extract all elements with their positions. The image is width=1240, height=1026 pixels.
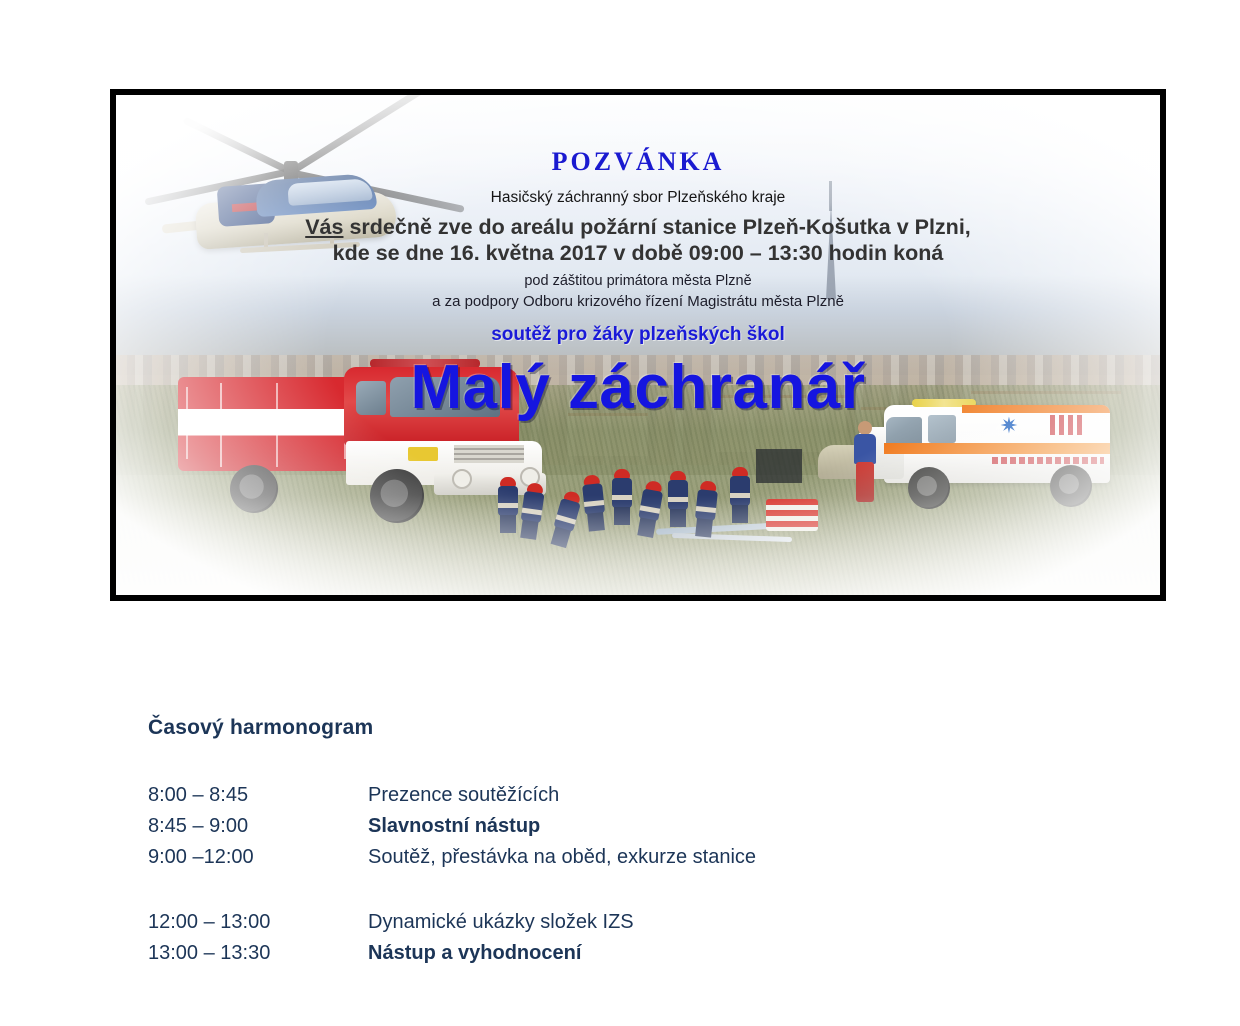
schedule-row: 12:00 – 13:00Dynamické ukázky složek IZS (148, 907, 1048, 938)
schedule-group: 12:00 – 13:00Dynamické ukázky složek IZS… (148, 907, 1048, 969)
poster-invitation-line1-rest: srdečně zve do areálu požární stanice Pl… (343, 215, 970, 239)
schedule-description: Prezence soutěžících (368, 780, 1048, 811)
poster-auspices-line1: pod záštitou primátora města Plzně (116, 273, 1160, 289)
poster-organization: Hasičský záchranný sbor Plzeňského kraje (116, 189, 1160, 207)
schedule-time: 8:00 – 8:45 (148, 780, 368, 811)
schedule-row: 9:00 –12:00Soutěž, přestávka na oběd, ex… (148, 842, 1048, 873)
schedule-section: Časový harmonogram 8:00 – 8:45Prezence s… (148, 716, 1048, 1003)
poster-text-block: POZVÁNKA Hasičský záchranný sbor Plzeňsk… (116, 95, 1160, 595)
poster-auspices-line2: a za podpory Odboru krizového řízení Mag… (116, 293, 1160, 310)
schedule-time: 9:00 –12:00 (148, 842, 368, 873)
schedule-row: 8:00 – 8:45Prezence soutěžících (148, 780, 1048, 811)
schedule-time: 12:00 – 13:00 (148, 907, 368, 938)
poster-invitation-underlined: Vás (305, 215, 343, 239)
schedule-row: 8:45 – 9:00Slavnostní nástup (148, 811, 1048, 842)
schedule-heading: Časový harmonogram (148, 716, 1048, 740)
schedule-groups: 8:00 – 8:45Prezence soutěžících8:45 – 9:… (148, 780, 1048, 969)
schedule-description: Nástup a vyhodnocení (368, 938, 1048, 969)
schedule-group: 8:00 – 8:45Prezence soutěžících8:45 – 9:… (148, 780, 1048, 873)
poster-title: POZVÁNKA (116, 147, 1160, 177)
schedule-description: Slavnostní nástup (368, 811, 1048, 842)
poster-invitation-line1: Vás srdečně zve do areálu požární stanic… (116, 214, 1160, 240)
schedule-description: Soutěž, přestávka na oběd, exkurze stani… (368, 842, 1048, 873)
poster-subtitle: soutěž pro žáky plzeňských škol (116, 324, 1160, 346)
schedule-description: Dynamické ukázky složek IZS (368, 907, 1048, 938)
poster-banner: ✷ POZVÁNKA Hasičský záchranný sbor Plzeň… (110, 89, 1166, 601)
schedule-time: 13:00 – 13:30 (148, 938, 368, 969)
poster-event-title: Malý záchranář (116, 352, 1160, 423)
poster-invitation-line2: kde se dne 16. května 2017 v době 09:00 … (116, 240, 1160, 266)
schedule-time: 8:45 – 9:00 (148, 811, 368, 842)
poster-invitation: Vás srdečně zve do areálu požární stanic… (116, 214, 1160, 266)
schedule-row: 13:00 – 13:30Nástup a vyhodnocení (148, 938, 1048, 969)
